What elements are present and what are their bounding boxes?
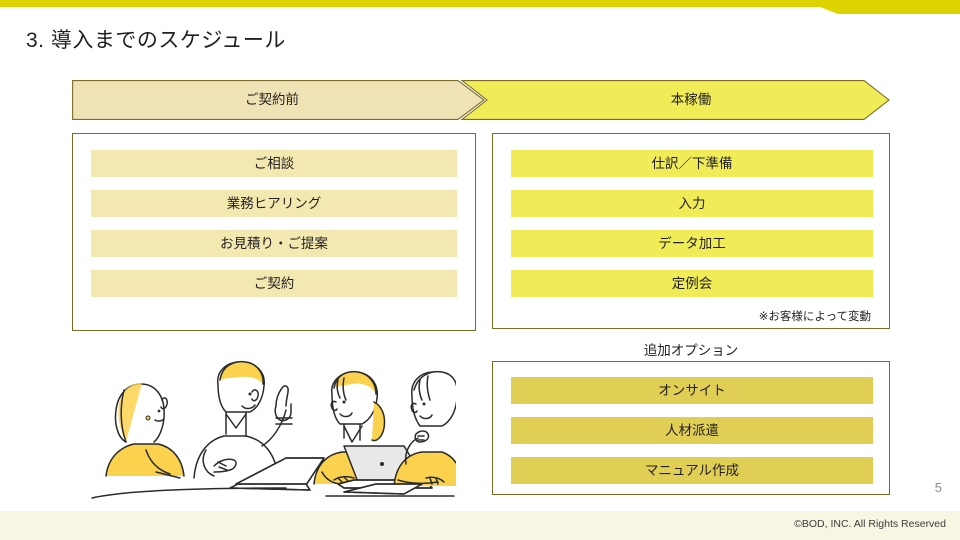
top-accent-band [0, 0, 960, 16]
live-operation-note: ※お客様によって変動 [759, 308, 871, 324]
footer-band: ©BOD, INC. All Rights Reserved [0, 511, 960, 540]
pre-contract-item-3: ご契約 [91, 270, 457, 297]
pre-contract-item-2: お見積り・ご提案 [91, 230, 457, 257]
pre-contract-item-1: 業務ヒアリング [91, 190, 457, 217]
additional-option-item-0: オンサイト [511, 377, 873, 404]
meeting-illustration [86, 354, 456, 500]
page-number: 5 [935, 480, 942, 495]
additional-options-panel: オンサイト 人材派遣 マニュアル作成 [492, 361, 890, 495]
live-operation-item-0: 仕訳／下準備 [511, 150, 873, 177]
additional-option-item-1: 人材派遣 [511, 417, 873, 444]
page-title: 3. 導入までのスケジュール [26, 24, 286, 54]
additional-option-item-2: マニュアル作成 [511, 457, 873, 484]
pre-contract-panel: ご相談 業務ヒアリング お見積り・ご提案 ご契約 [72, 133, 476, 331]
live-operation-panel: 仕訳／下準備 入力 データ加工 定例会 ※お客様によって変動 [492, 133, 890, 329]
phase-arrow-row: ご契約前 本稼働 [72, 80, 890, 120]
live-operation-item-2: データ加工 [511, 230, 873, 257]
additional-options-heading: 追加オプション [492, 339, 890, 359]
copyright-text: ©BOD, INC. All Rights Reserved [794, 518, 946, 530]
pre-contract-item-0: ご相談 [91, 150, 457, 177]
live-operation-item-1: 入力 [511, 190, 873, 217]
live-operation-item-3: 定例会 [511, 270, 873, 297]
